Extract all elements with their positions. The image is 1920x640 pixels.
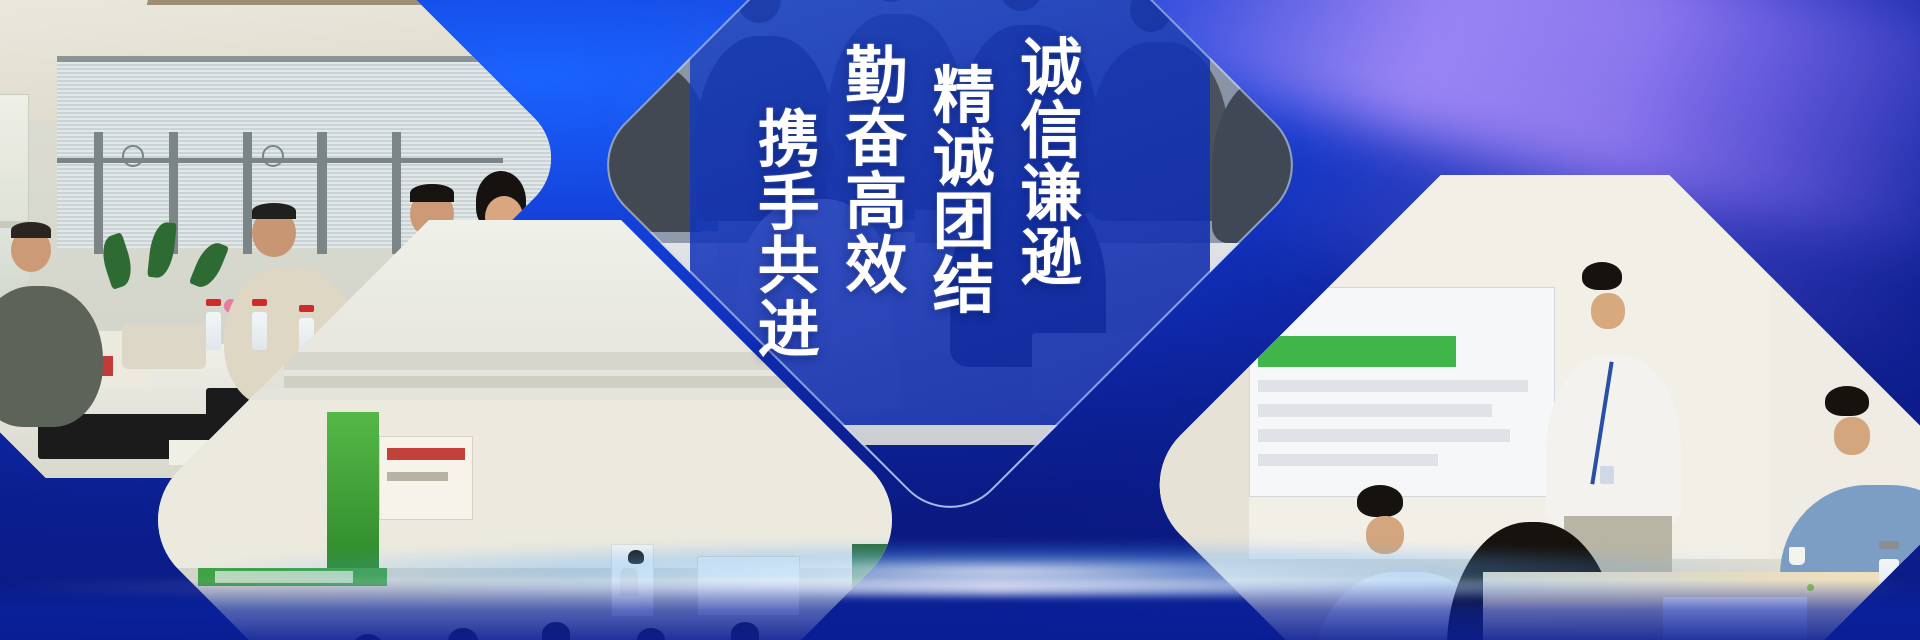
bottom-fade <box>0 580 1920 640</box>
hero-banner: 诚 信 谦 逊 精 诚 团 结 勤 奋 高 效 携 手 共 进 <box>0 0 1920 640</box>
